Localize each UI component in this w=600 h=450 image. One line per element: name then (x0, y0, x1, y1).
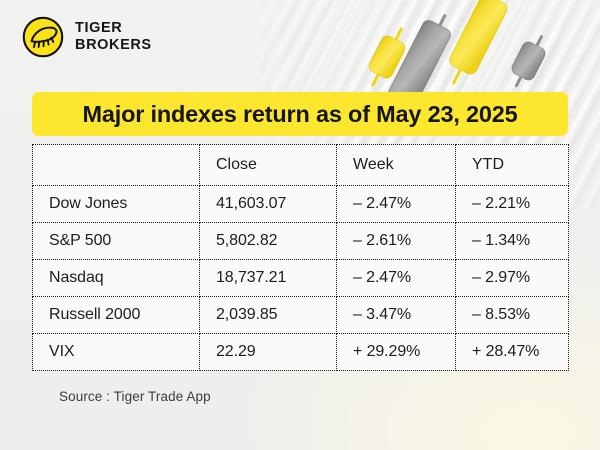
candlestick-yellow-tall-icon (440, 0, 515, 91)
table-row: Nasdaq 18,737.21 – 2.47% – 2.97% (33, 260, 569, 297)
poster-canvas: TIGER BROKERS Major indexes return as of… (0, 0, 600, 450)
table-header-row: Close Week YTD (33, 145, 569, 186)
cell-week: – 2.47% (337, 260, 456, 297)
candlestick-body (447, 0, 510, 77)
candlestick-body (509, 39, 548, 82)
table-row: Russell 2000 2,039.85 – 3.47% – 8.53% (33, 297, 569, 334)
tiger-face-circle-icon (22, 16, 64, 58)
column-header-name (33, 145, 200, 186)
candlestick-yellow-small-icon (360, 22, 413, 93)
index-table-container: Close Week YTD Dow Jones 41,603.07 – 2.4… (32, 144, 568, 371)
brand-logo: TIGER BROKERS (22, 16, 152, 58)
row-label: VIX (33, 334, 200, 371)
cell-close: 41,603.07 (200, 186, 337, 223)
cell-ytd: + 28.47% (456, 334, 569, 371)
column-header-close: Close (200, 145, 337, 186)
cell-ytd: – 8.53% (456, 297, 569, 334)
cell-ytd: – 2.21% (456, 186, 569, 223)
column-header-week: Week (337, 145, 456, 186)
title-banner: Major indexes return as of May 23, 2025 (32, 92, 568, 136)
cell-close: 18,737.21 (200, 260, 337, 297)
cell-week: – 3.47% (337, 297, 456, 334)
source-note: Source : Tiger Trade App (59, 389, 211, 404)
candlestick-gray-small-icon (504, 29, 553, 92)
brand-name: TIGER BROKERS (75, 20, 152, 54)
candlestick-wick (371, 27, 404, 87)
row-label: S&P 500 (33, 223, 200, 260)
candlestick-wick (514, 34, 543, 87)
index-returns-table: Close Week YTD Dow Jones 41,603.07 – 2.4… (32, 144, 569, 371)
table-row: Dow Jones 41,603.07 – 2.47% – 2.21% (33, 186, 569, 223)
cell-close: 2,039.85 (200, 297, 337, 334)
table-row: VIX 22.29 + 29.29% + 28.47% (33, 334, 569, 371)
page-title: Major indexes return as of May 23, 2025 (83, 101, 518, 128)
cell-close: 5,802.82 (200, 223, 337, 260)
row-label: Dow Jones (33, 186, 200, 223)
column-header-ytd: YTD (456, 145, 569, 186)
candlestick-body (366, 33, 407, 80)
row-label: Nasdaq (33, 260, 200, 297)
table-row: S&P 500 5,802.82 – 2.61% – 1.34% (33, 223, 569, 260)
candlestick-wick (452, 0, 503, 85)
cell-close: 22.29 (200, 334, 337, 371)
row-label: Russell 2000 (33, 297, 200, 334)
cell-week: + 29.29% (337, 334, 456, 371)
cell-week: – 2.47% (337, 186, 456, 223)
cell-ytd: – 2.97% (456, 260, 569, 297)
cell-week: – 2.61% (337, 223, 456, 260)
cell-ytd: – 1.34% (456, 223, 569, 260)
